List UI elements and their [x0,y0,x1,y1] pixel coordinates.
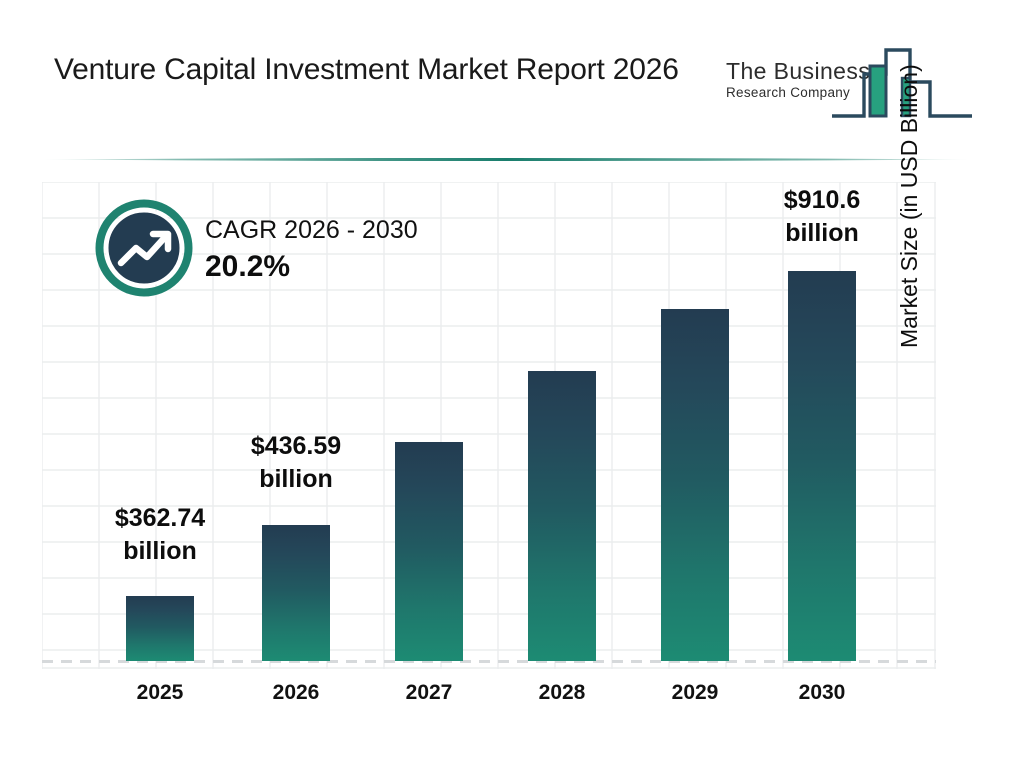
bar-value-label-line2: billion [194,463,398,496]
bar-value-label-line1: $436.59 [194,430,398,463]
x-axis-tick-2026: 2026 [222,681,370,705]
bar-value-label-line1: $910.6 [720,184,924,217]
market-report-infographic: Venture Capital Investment Market Report… [0,0,1024,768]
bar-value-label: $362.74billion [58,502,262,568]
bar [126,596,194,661]
trending-up-icon [95,199,193,297]
cagr-badge: CAGR 2026 - 2030 20.2% [95,199,495,309]
bar [788,271,856,661]
bar-value-label-line1: $362.74 [58,502,262,535]
bar [528,371,596,661]
bar-value-label: $436.59billion [194,430,398,496]
cagr-text-block: CAGR 2026 - 2030 20.2% [205,213,495,286]
y-axis-title: Market Size (in USD Billion) [896,0,936,348]
bar [661,309,729,661]
x-axis-tick-2029: 2029 [621,681,769,705]
x-axis-tick-2028: 2028 [488,681,636,705]
bar-value-label: $910.6billion [720,184,924,250]
cagr-value-label: 20.2% [205,248,495,286]
cagr-period-label: CAGR 2026 - 2030 [205,213,495,248]
bar [395,442,463,661]
x-axis-tick-2027: 2027 [355,681,503,705]
bar-value-label-line2: billion [720,217,924,250]
x-axis-tick-2030: 2030 [748,681,896,705]
x-axis-tick-2025: 2025 [86,681,234,705]
bar-value-label-line2: billion [58,535,262,568]
bar-chart: $362.74billion$436.59billion$910.6billio… [0,0,1024,768]
bar [262,525,330,661]
